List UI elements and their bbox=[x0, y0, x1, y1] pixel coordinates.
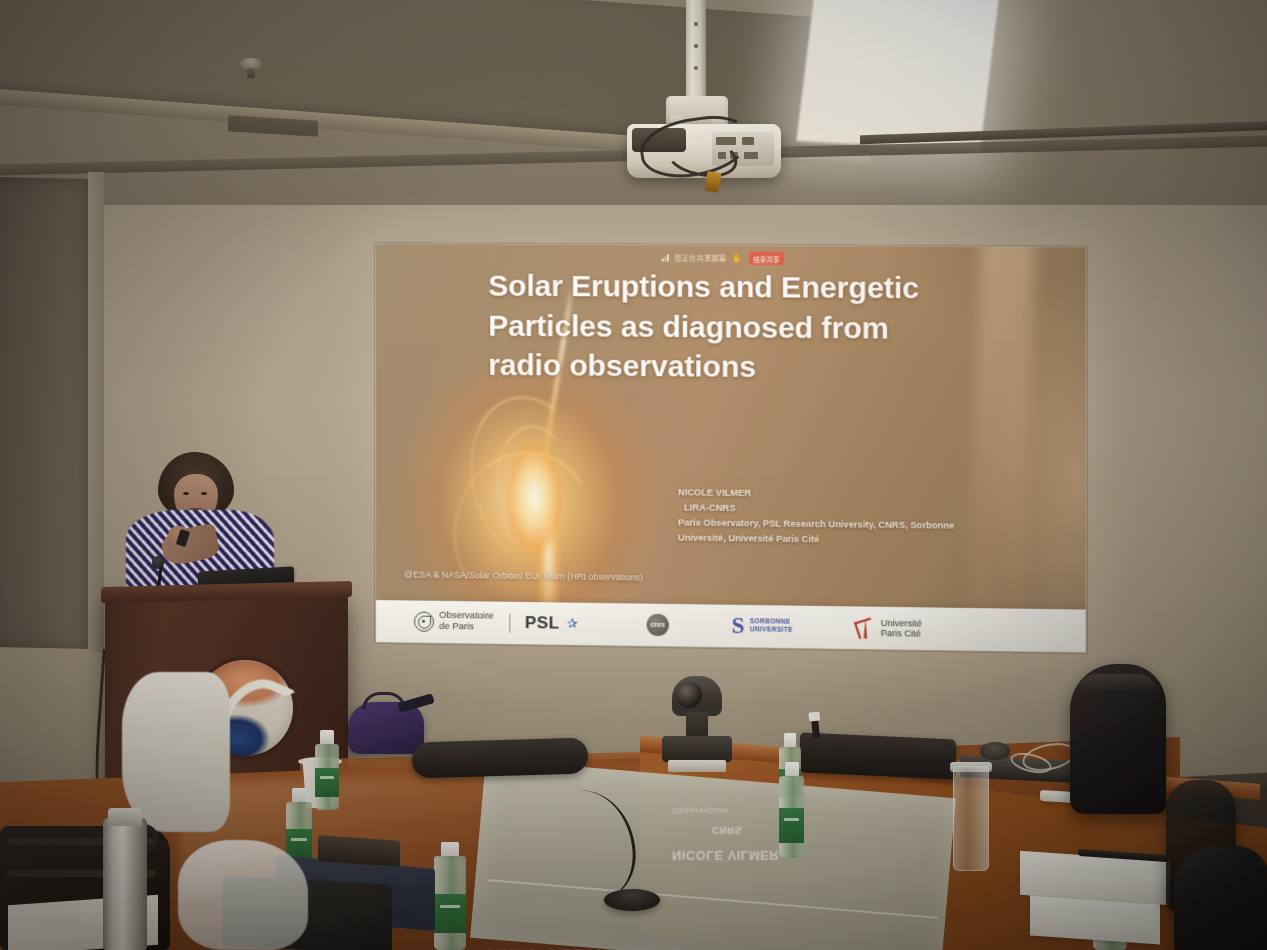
cnrs-icon: cnrs bbox=[646, 614, 668, 636]
logo-sorbonne-text: SORBONNE UNIVERSITE bbox=[750, 618, 793, 635]
ptz-camera-feet bbox=[668, 760, 726, 772]
camera-lens-icon bbox=[676, 682, 702, 708]
podium-mic-head bbox=[152, 556, 164, 569]
projector-mount-pole bbox=[686, 0, 706, 104]
logo-observatoire-text: Observatoire de Paris bbox=[439, 611, 494, 633]
ceiling-light-panel bbox=[796, 0, 998, 151]
observatoire-icon bbox=[414, 612, 434, 632]
computer-mouse[interactable] bbox=[980, 742, 1010, 760]
paris-cite-line-1: Université bbox=[881, 618, 922, 629]
ptz-camera-base bbox=[662, 736, 732, 762]
logo-divider bbox=[510, 613, 511, 632]
logo-universite-paris-cite: Université Paris Cité bbox=[856, 617, 922, 639]
slide-title-line-3: radio observations bbox=[488, 346, 997, 390]
raise-hand-icon[interactable]: ✋ bbox=[732, 254, 742, 263]
slide-title: Solar Eruptions and Energetic Particles … bbox=[488, 267, 997, 390]
slide-author-block: NICOLE VILMER LIRA-CNRS Paris Observator… bbox=[678, 485, 1057, 550]
speaker-bar-right bbox=[800, 732, 956, 779]
sorbonne-line-1: SORBONNE bbox=[750, 618, 791, 626]
screen-share-status-bar[interactable]: 您正在共享屏幕 ✋ 结束共享 bbox=[662, 251, 784, 265]
glass-tumbler bbox=[953, 766, 989, 871]
office-chair bbox=[1070, 664, 1166, 814]
water-bottle bbox=[779, 762, 804, 858]
observatoire-line-2: de Paris bbox=[439, 621, 474, 633]
water-bottle bbox=[315, 730, 339, 810]
slide-title-line-1: Solar Eruptions and Energetic bbox=[488, 267, 997, 310]
office-chair bbox=[1174, 846, 1267, 950]
signal-bars-icon bbox=[662, 254, 669, 261]
logo-paris-cite-text: Université Paris Cité bbox=[881, 618, 922, 640]
sorbonne-line-2: UNIVERSITE bbox=[750, 626, 793, 634]
speaker-bar-left bbox=[412, 738, 588, 779]
logo-sorbonne-universite: S SORBONNE UNIVERSITE bbox=[732, 617, 793, 636]
logo-observatoire-de-paris: Observatoire de Paris PSL ✰ bbox=[414, 611, 578, 635]
share-status-text: 您正在共享屏幕 bbox=[674, 253, 726, 263]
reflection-org: Observatoire bbox=[672, 806, 729, 816]
psl-star-icon: ✰ bbox=[567, 616, 578, 632]
left-wall-alcove bbox=[0, 177, 93, 649]
conference-room-photo: 您正在共享屏幕 ✋ 结束共享 Solar Eruptions and Energ… bbox=[0, 0, 1267, 950]
paris-cite-icon bbox=[856, 617, 875, 639]
end-share-button[interactable]: 结束共享 bbox=[749, 252, 784, 265]
reflection-lab: CNRS bbox=[712, 824, 742, 835]
paris-cite-line-2: Paris Cité bbox=[881, 628, 921, 639]
table-microphone-puck[interactable] bbox=[604, 889, 660, 911]
logo-psl-text: PSL bbox=[525, 613, 560, 634]
reflection-title: radio observations bbox=[486, 944, 681, 950]
smoke-detector-icon bbox=[240, 58, 262, 70]
left-wall-edge bbox=[88, 172, 104, 652]
plastic-bag bbox=[178, 840, 308, 950]
water-bottle bbox=[434, 842, 466, 950]
thermos-cap bbox=[108, 808, 142, 826]
sorbonne-s-icon: S bbox=[732, 617, 745, 636]
reflection-name: NICOLE VILMER bbox=[672, 848, 779, 863]
projection-screen: 您正在共享屏幕 ✋ 结束共享 Solar Eruptions and Energ… bbox=[376, 244, 1086, 652]
slide-title-line-2: Particles as diagnosed from bbox=[488, 306, 997, 349]
metal-thermos bbox=[103, 818, 147, 950]
ptz-camera-neck bbox=[686, 712, 708, 738]
logo-cnrs: cnrs bbox=[646, 614, 668, 636]
